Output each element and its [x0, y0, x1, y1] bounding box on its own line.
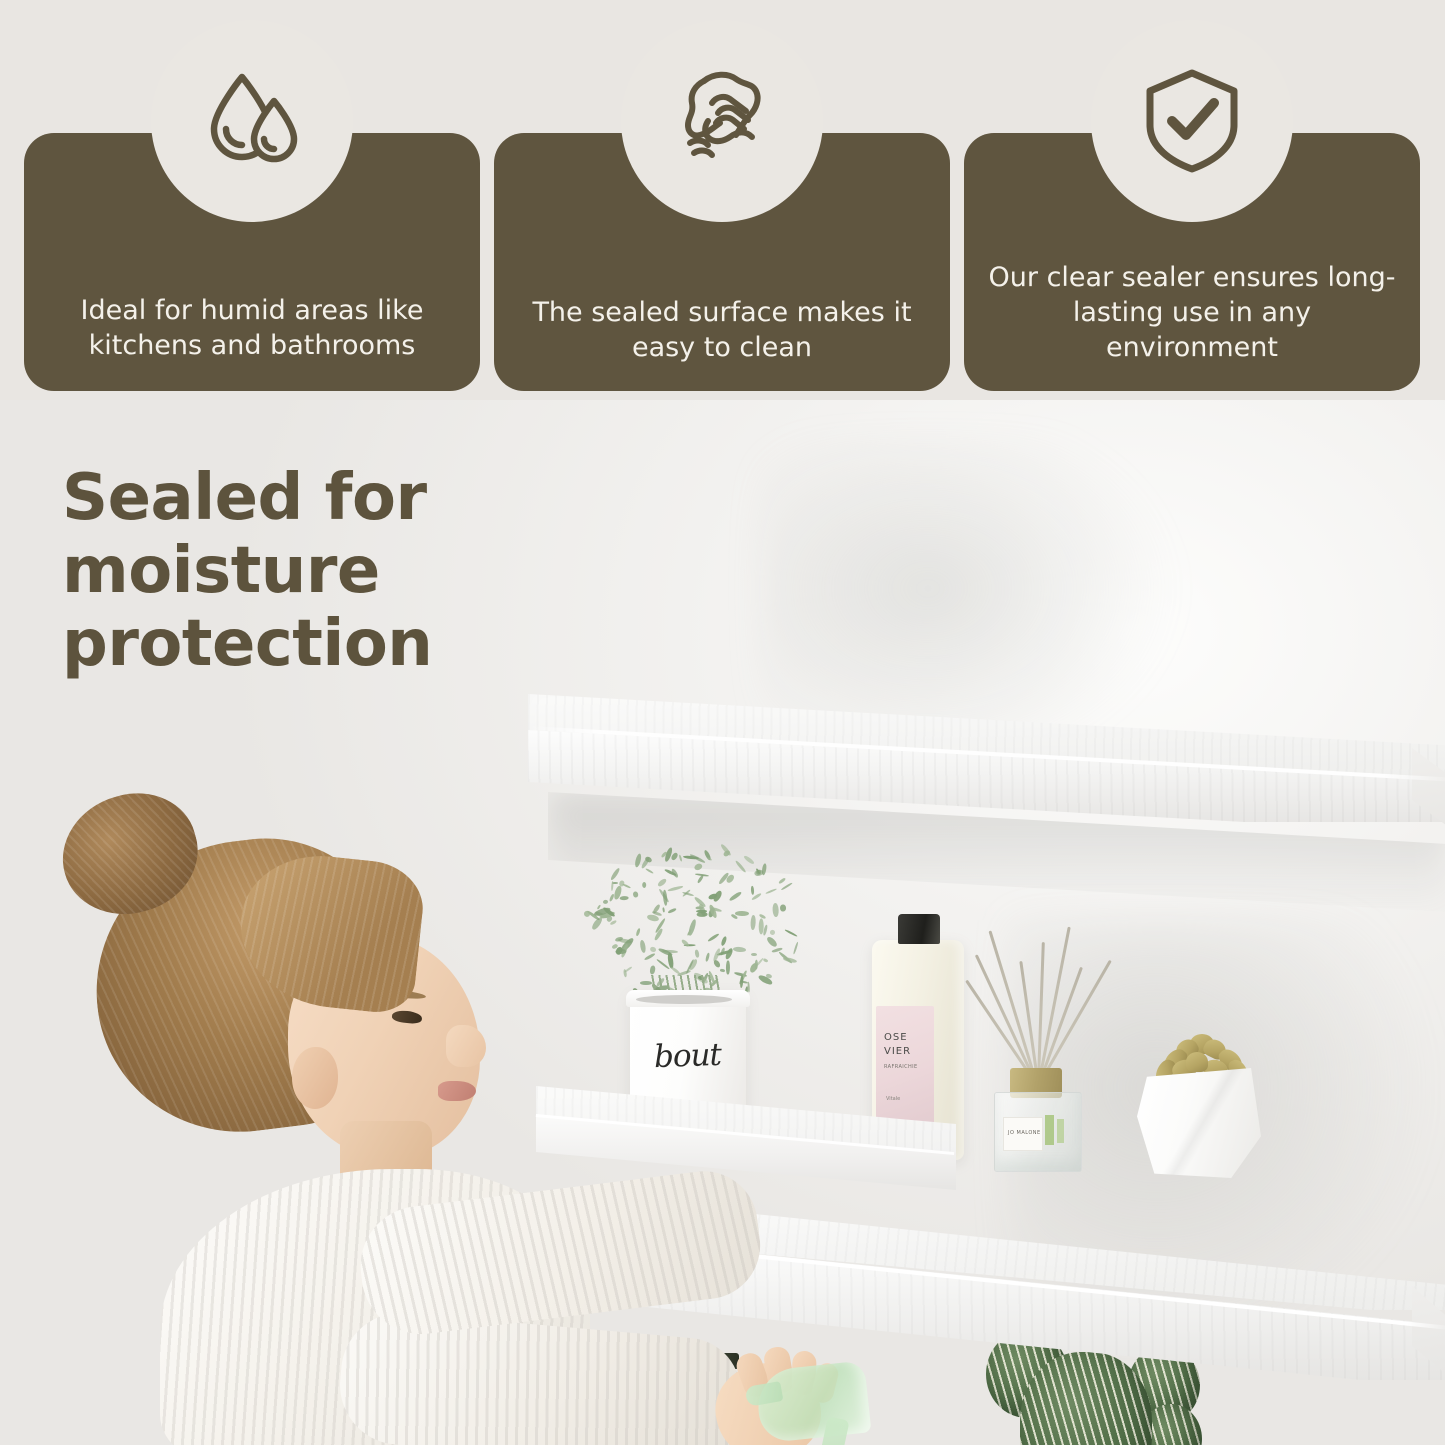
- diffuser-green-accent-2: [1057, 1119, 1064, 1143]
- geometric-white-pot: [1137, 1068, 1261, 1178]
- bottle-cap: [898, 914, 940, 944]
- child-nose: [446, 1025, 486, 1067]
- reed-diffuser: JO MALONE: [988, 920, 1088, 1170]
- spray-bottle: [750, 1360, 880, 1445]
- diffuser-brand-text: JO MALONE: [1008, 1130, 1041, 1136]
- child-figure: [40, 785, 740, 1445]
- feature-badge-easy-clean-text: The sealed surface makes it easy to clea…: [494, 295, 950, 365]
- child-ear: [292, 1047, 338, 1109]
- diffuser-jar-label: JO MALONE: [1003, 1117, 1043, 1151]
- bottle-label-line1: OSE: [884, 1032, 908, 1043]
- feature-badge-durability-text: Our clear sealer ensures long-lasting us…: [964, 260, 1420, 365]
- feature-badge-humidity-text: Ideal for humid areas like kitchens and …: [24, 293, 480, 365]
- bottle-label-line3: RAFRAICHIE: [884, 1064, 918, 1070]
- diffuser-reeds: [988, 920, 1128, 1080]
- bottle-label-line2: VIER: [884, 1046, 911, 1057]
- diffuser-green-accent-1: [1045, 1115, 1054, 1145]
- feature-badge-row: Ideal for humid areas like kitchens and …: [0, 0, 1445, 400]
- child-lips: [438, 1081, 476, 1101]
- geo-pot-facet: [1137, 1068, 1261, 1178]
- diffuser-glass-jar: JO MALONE: [994, 1092, 1082, 1172]
- hand-wiping-cloth-icon: [621, 20, 823, 222]
- shield-check-icon: [1091, 20, 1293, 222]
- page-title: Sealed for moisture protection: [62, 462, 492, 681]
- water-droplets-icon: [151, 20, 353, 222]
